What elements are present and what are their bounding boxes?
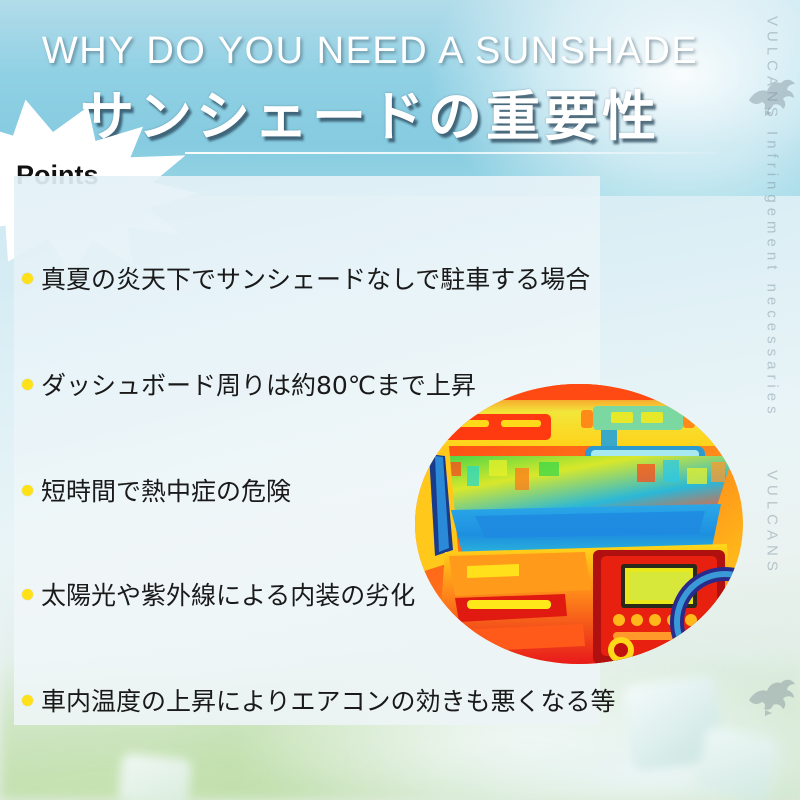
list-item-label: 車内温度の上昇によりエアコンの効きも悪くなる等 xyxy=(41,682,616,718)
list-item-label: 短時間で熱中症の危険 xyxy=(41,472,291,508)
bullet-dot-icon xyxy=(22,485,33,496)
list-item: 車内温度の上昇によりエアコンの効きも悪くなる等 xyxy=(22,682,616,718)
bullet-dot-icon xyxy=(22,589,33,600)
list-item: ダッシュボード周りは約80℃まで上昇 xyxy=(22,366,476,402)
bullet-dot-icon xyxy=(22,273,33,284)
sunshade-infographic-poster: WHY DO YOU NEED A SUNSHADE サンシェードの重要性 Po… xyxy=(0,0,800,800)
points-list: 真夏の炎天下でサンシェードなしで駐車する場合 ダッシュボード周りは約80℃まで上… xyxy=(14,176,654,725)
list-item-label: 真夏の炎天下でサンシェードなしで駐車する場合 xyxy=(41,260,590,296)
title-english: WHY DO YOU NEED A SUNSHADE xyxy=(0,30,740,73)
header-divider xyxy=(185,152,715,154)
bullet-dot-icon xyxy=(22,379,33,390)
list-item: 太陽光や紫外線による内装の劣化 xyxy=(22,576,415,612)
list-item: 真夏の炎天下でサンシェードなしで駐車する場合 xyxy=(22,260,590,296)
list-item: 短時間で熱中症の危険 xyxy=(22,472,291,508)
list-item-label: ダッシュボード周りは約80℃まで上昇 xyxy=(41,366,476,402)
bullet-dot-icon xyxy=(22,695,33,706)
ice-cube-decor xyxy=(118,752,193,800)
list-item-label: 太陽光や紫外線による内装の劣化 xyxy=(41,576,415,612)
